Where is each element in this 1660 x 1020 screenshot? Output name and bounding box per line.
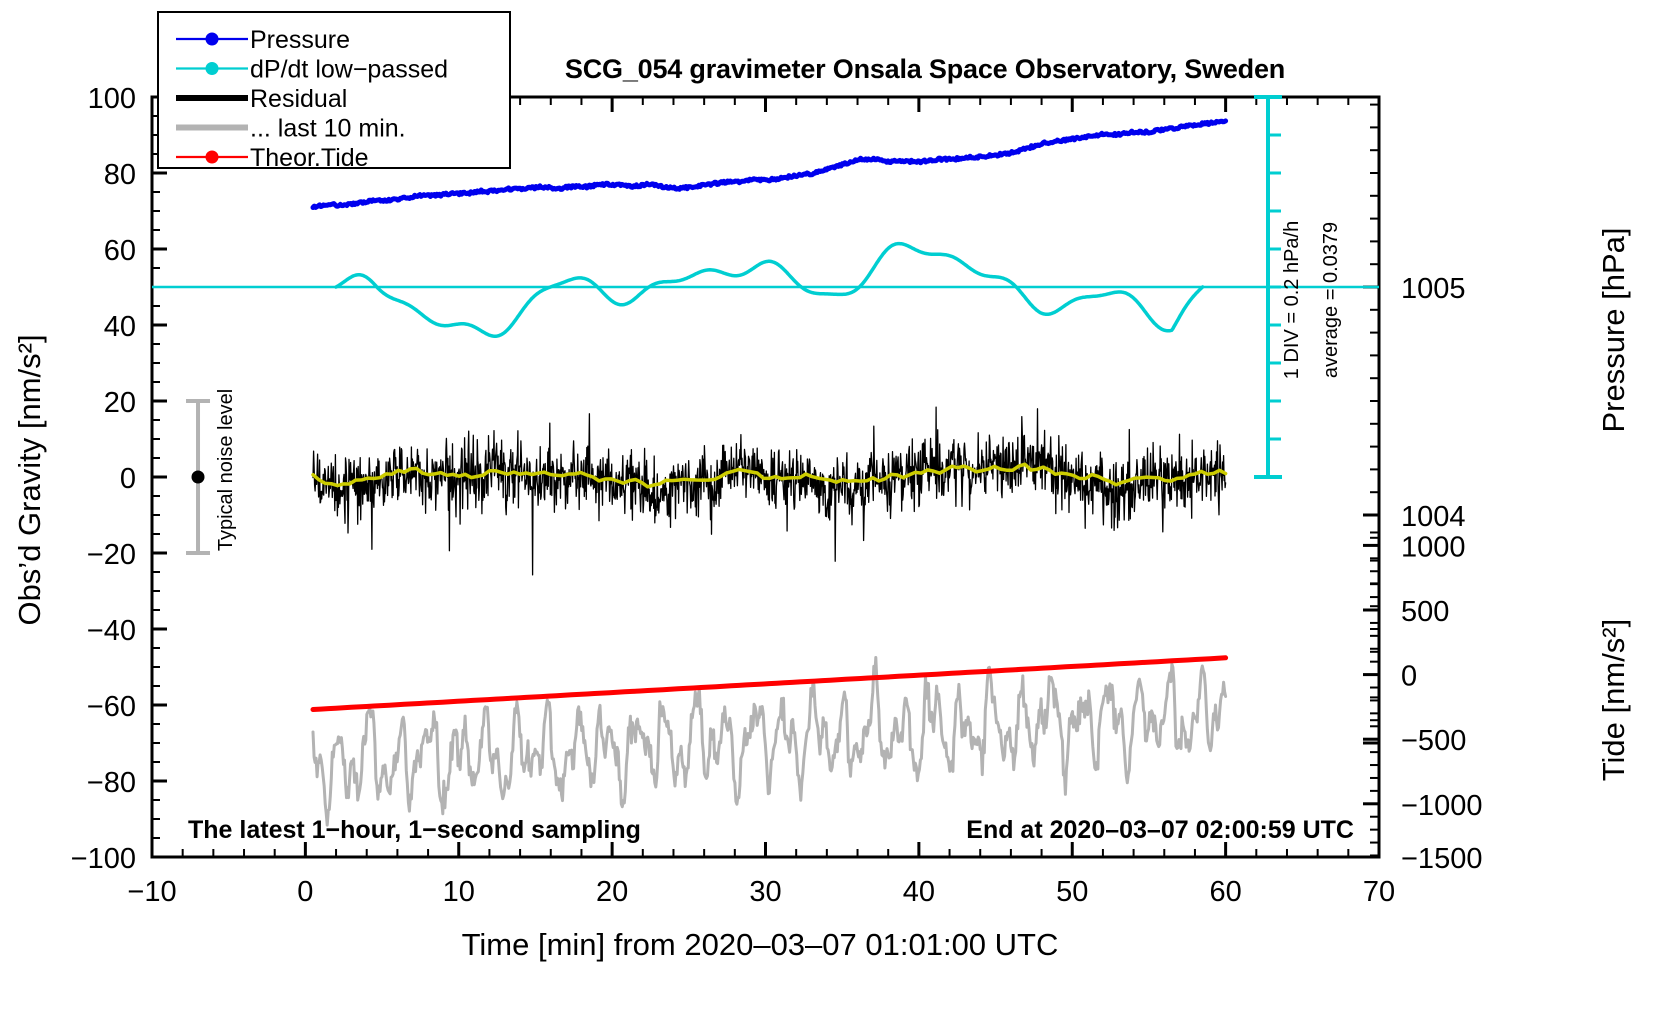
y-tick-label: 40 [104,311,136,343]
y-tick-label: 100 [88,83,136,115]
y-tick-label: −100 [71,843,136,875]
tide-tick-label: −1000 [1401,790,1482,822]
residual-line [313,407,1226,575]
plot-root: −10010203040506070 −100−80−60−40−2002040… [0,0,1660,1020]
x-tick-label: 70 [1363,876,1395,908]
dpdt-average-label: average = 0.0379 [1320,222,1342,378]
gravimeter-chart: −10010203040506070 −100−80−60−40−2002040… [0,0,1660,1020]
legend-swatch-dot [206,33,219,46]
legend-item-label[interactable]: Pressure [250,26,350,54]
tide-tick-label: 0 [1401,661,1417,693]
x-tick-label: 50 [1056,876,1088,908]
series-residual [313,407,1226,575]
noise-bar-center-dot [192,471,205,484]
pressure-axis-label: Pressure [hPa] [1596,227,1631,432]
legend-swatch-dot [206,62,219,75]
legend-item-label[interactable]: Residual [250,85,347,113]
tide-tick-label: 500 [1401,596,1449,628]
chart-title: SCG_054 gravimeter Onsala Space Observat… [565,54,1285,84]
pressure-tick-label: 1005 [1401,273,1466,305]
y-axis-label: Obs’d Gravity [nm/s²] [12,334,47,625]
dpdt-line [336,244,1203,337]
tide-tick-label: −500 [1401,725,1466,757]
dpdt-scale-label: 1 DIV = 0.2 hPa/h [1281,221,1303,379]
x-axis-label: Time [min] from 2020–03–07 01:01:00 UTC [462,927,1059,962]
legend-swatch-dot [206,151,219,164]
x-tick-label: 60 [1209,876,1241,908]
tide-axis-ticks: −1000−50005001000−1500 [1363,531,1482,875]
y-tick-label: −20 [87,539,136,571]
y-tick-label: −80 [87,767,136,799]
x-tick-label: 10 [443,876,475,908]
annotation-bottom-right: End at 2020–03–07 02:00:59 UTC [966,816,1354,844]
noise-bar-label: Typical noise level [215,389,237,551]
tide-axis-label: Tide [nm/s²] [1596,619,1631,782]
y-tick-label: −40 [87,615,136,647]
x-tick-label: −10 [127,876,176,908]
tide-tick-label: 1000 [1401,531,1466,563]
y-tick-label: 20 [104,387,136,419]
series-dpdt-lowpassed [152,244,1379,337]
annotation-bottom-left: The latest 1−hour, 1−second sampling [188,816,641,844]
legend-item-label[interactable]: ... last 10 min. [250,115,406,143]
legend-item-label[interactable]: Theor.Tide [250,144,369,172]
pressure-tick-label: 1004 [1401,501,1466,533]
y-tick-label: 0 [120,463,136,495]
legend[interactable]: PressuredP/dt low−passedResidual... last… [158,12,510,172]
x-tick-label: 40 [903,876,935,908]
x-tick-label: 20 [596,876,628,908]
y-tick-label: 60 [104,235,136,267]
y-tick-label: −60 [87,691,136,723]
typical-noise-level-bar [186,401,210,553]
y-tick-label: 80 [104,159,136,191]
legend-item-label[interactable]: dP/dt low−passed [250,56,448,84]
x-axis-ticks: −10010203040506070 [127,97,1395,908]
tide-tick-label: −1500 [1401,843,1482,875]
x-tick-label: 30 [749,876,781,908]
x-tick-label: 0 [297,876,313,908]
